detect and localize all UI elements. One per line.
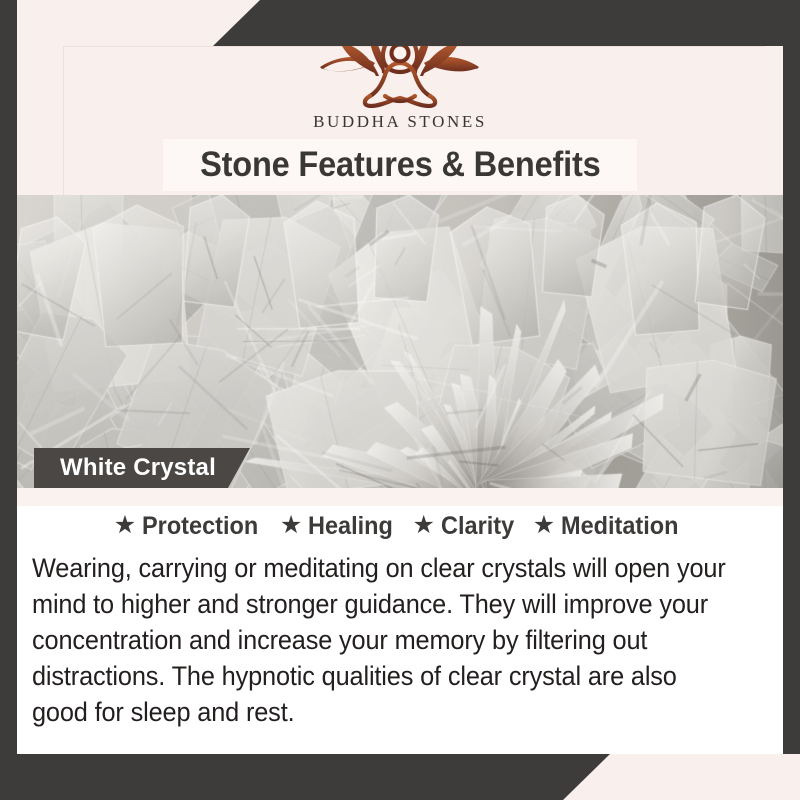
benefits-row: ★Protection★Healing★Clarity★Meditation bbox=[17, 512, 783, 541]
page-title: Stone Features & Benefits bbox=[200, 145, 601, 185]
brand-name: BUDDHA STONES bbox=[0, 112, 800, 132]
star-icon: ★ bbox=[533, 513, 555, 538]
stone-info-card: BUDDHA STONES Stone Features & Benefits … bbox=[0, 0, 800, 800]
stone-name-label: White Crystal bbox=[60, 454, 216, 482]
benefit-item: ★Clarity bbox=[413, 512, 519, 541]
white-crystal-cluster-photo: White Crystal bbox=[17, 195, 783, 488]
frame-right-bar bbox=[783, 0, 800, 800]
benefit-label: Clarity bbox=[441, 512, 514, 541]
content-top-tint bbox=[17, 488, 783, 506]
star-icon: ★ bbox=[413, 513, 435, 538]
benefit-label: Meditation bbox=[561, 512, 679, 541]
star-icon: ★ bbox=[114, 513, 136, 538]
benefit-label: Healing bbox=[308, 512, 393, 541]
benefit-item: ★Protection bbox=[114, 512, 266, 541]
frame-bottom-diagonal bbox=[0, 754, 610, 800]
benefit-item: ★Healing bbox=[280, 512, 399, 541]
title-bar: Stone Features & Benefits bbox=[163, 139, 637, 191]
frame-left-bar bbox=[0, 0, 17, 800]
benefit-label: Protection bbox=[142, 512, 258, 541]
content-panel: ★Protection★Healing★Clarity★Meditation W… bbox=[17, 488, 783, 754]
benefit-item: ★Meditation bbox=[533, 512, 686, 541]
stone-name-banner: White Crystal bbox=[34, 448, 250, 488]
crystal-photo-canvas bbox=[17, 195, 783, 488]
frame-top-diagonal bbox=[213, 0, 800, 46]
star-icon: ★ bbox=[280, 513, 302, 538]
stone-description: Wearing, carrying or meditating on clear… bbox=[32, 550, 734, 730]
